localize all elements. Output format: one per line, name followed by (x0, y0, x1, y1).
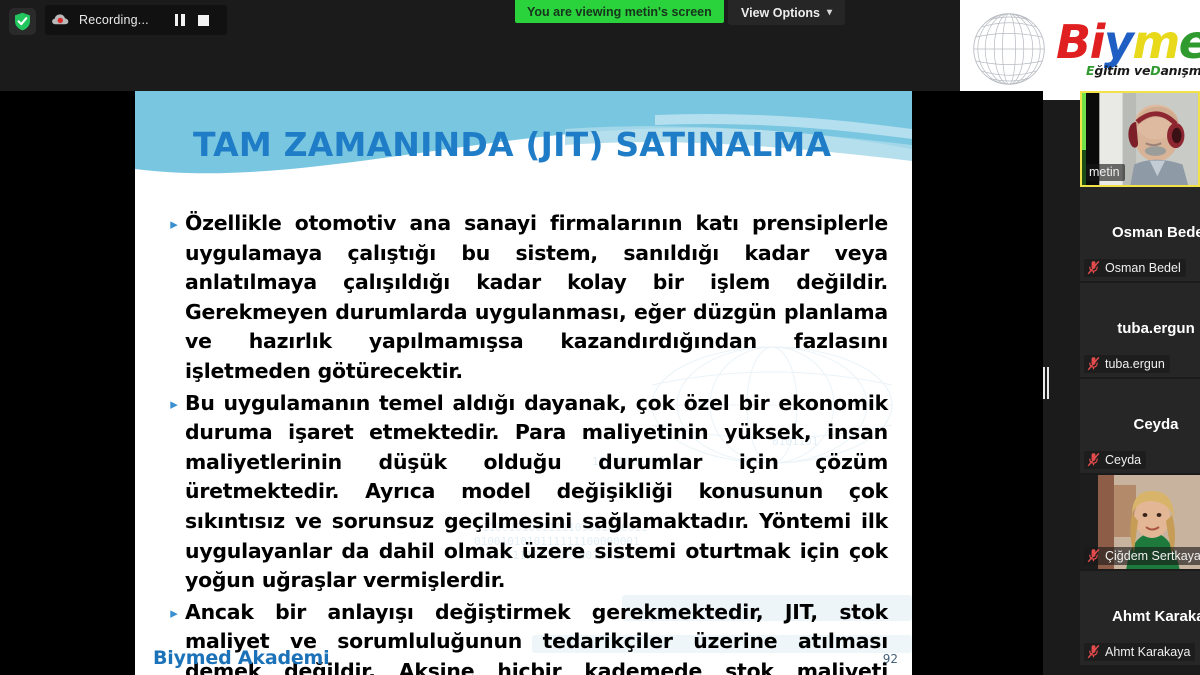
microphone-muted-icon (1087, 548, 1100, 563)
logo-tagline-part: D (1150, 63, 1160, 78)
recording-label: Recording... (79, 13, 149, 27)
participant-sidebar[interactable]: metinOsman Bedel Osman Bedeltuba.ergun t… (1080, 91, 1200, 675)
slide-footer: Biymed Akademi 92 (153, 647, 898, 669)
microphone-muted-icon (1087, 452, 1100, 467)
microphone-muted-icon (1087, 644, 1100, 659)
participant-name-label: Ahmt Karakaya (1105, 645, 1190, 659)
logo-letter: i (1090, 19, 1104, 65)
zoom-meeting-window: Recording... You are viewing metin's scr… (0, 0, 1200, 675)
participant-tile[interactable]: metin (1080, 91, 1200, 187)
logo-letter: e (1179, 19, 1200, 65)
participant-tile[interactable]: tuba.ergun tuba.ergun (1080, 283, 1200, 379)
participant-name-tag: Ceyda (1084, 451, 1146, 469)
participant-name-tag: metin (1086, 164, 1125, 181)
participant-placeholder-name: Ahmt Karakaya (1080, 608, 1200, 625)
bullet-marker-icon: ▸ (163, 389, 185, 596)
participant-placeholder-name: Osman Bedel (1080, 224, 1200, 241)
shield-check-icon[interactable] (9, 8, 36, 35)
biymed-wordmark: Biymed (1056, 19, 1200, 65)
recording-bar: Recording... (45, 5, 227, 35)
slide-bullet-item: ▸ Özellikle otomotiv ana sanayi firmalar… (163, 209, 888, 387)
participant-name-tag: Ahmt Karakaya (1084, 643, 1195, 661)
slide-title: TAM ZAMANINDA (JIT) SATINALMA (193, 125, 831, 164)
logo-letter: m (1132, 19, 1178, 65)
bullet-marker-icon: ▸ (163, 209, 185, 387)
stop-icon (198, 15, 209, 26)
logo-tagline-part: anışmanlık (1160, 63, 1200, 78)
microphone-muted-icon (1087, 452, 1100, 467)
participant-name-label: metin (1089, 165, 1120, 179)
logo-tagline-part: E (1086, 63, 1094, 78)
viewing-screen-notice: You are viewing metin's screen (515, 0, 724, 23)
participant-name-label: Osman Bedel (1105, 261, 1181, 275)
participant-name-tag: tuba.ergun (1084, 355, 1170, 373)
view-options-label: View Options (741, 6, 820, 20)
logo-tagline-part: ğitim ve (1094, 63, 1150, 78)
record-cloud-icon (51, 10, 71, 30)
shield-check-glyph (14, 12, 31, 31)
slide-bullet-list: ▸ Özellikle otomotiv ana sanayi firmalar… (163, 209, 888, 675)
wireframe-globe-icon (968, 8, 1050, 90)
shared-screen-stage: 1100101001111101001010011 01001010101111… (0, 91, 1043, 675)
resize-handle-icon[interactable] (1040, 366, 1052, 400)
record-cloud-glyph (51, 10, 71, 30)
microphone-muted-icon (1087, 260, 1100, 275)
participant-placeholder-name: Ceyda (1080, 416, 1200, 433)
participant-name-label: Çiğdem Sertkaya (1105, 549, 1200, 563)
participant-name-label: Ceyda (1105, 453, 1141, 467)
bullet-paragraph: Özellikle otomotiv ana sanayi firmaların… (185, 209, 888, 387)
participant-name-tag: Çiğdem Sertkaya (1084, 547, 1200, 565)
slide-page-number: 92 (883, 652, 898, 669)
slide-bullet-item: ▸ Bu uygulamanın temel aldığı dayanak, ç… (163, 389, 888, 596)
presentation-slide: 1100101001111101001010011 01001010101111… (135, 91, 912, 675)
participant-tile[interactable]: Ceyda Ceyda (1080, 379, 1200, 475)
participant-tile[interactable]: Ahmt Karakaya Ahmt Karakaya (1080, 571, 1200, 667)
meeting-top-bar: Recording... You are viewing metin's scr… (0, 0, 1200, 91)
bullet-paragraph: Bu uygulamanın temel aldığı dayanak, çok… (185, 389, 888, 596)
stop-recording-button[interactable] (195, 10, 213, 30)
participant-placeholder-name: tuba.ergun (1080, 320, 1200, 337)
participant-tile[interactable]: Osman Bedel Osman Bedel (1080, 187, 1200, 283)
participant-name-label: tuba.ergun (1105, 357, 1165, 371)
microphone-muted-icon (1087, 644, 1100, 659)
pause-icon (175, 14, 185, 26)
logo-letter: y (1104, 19, 1133, 65)
chevron-down-icon: ▾ (827, 7, 832, 18)
biymed-logo: Biymed Eğitim ve Danışmanlık (960, 0, 1200, 100)
microphone-muted-icon (1087, 356, 1100, 371)
microphone-muted-icon (1087, 356, 1100, 371)
view-options-button[interactable]: View Options ▾ (728, 0, 845, 25)
microphone-muted-icon (1087, 548, 1100, 563)
biymed-tagline: Eğitim ve Danışmanlık (1086, 63, 1200, 78)
slide-footer-brand: Biymed Akademi (153, 647, 329, 669)
microphone-muted-icon (1087, 260, 1100, 275)
participant-name-tag: Osman Bedel (1084, 259, 1186, 277)
participant-tile[interactable]: Çiğdem Sertkaya (1080, 475, 1200, 571)
pause-recording-button[interactable] (171, 10, 189, 30)
logo-letter: B (1056, 19, 1090, 65)
